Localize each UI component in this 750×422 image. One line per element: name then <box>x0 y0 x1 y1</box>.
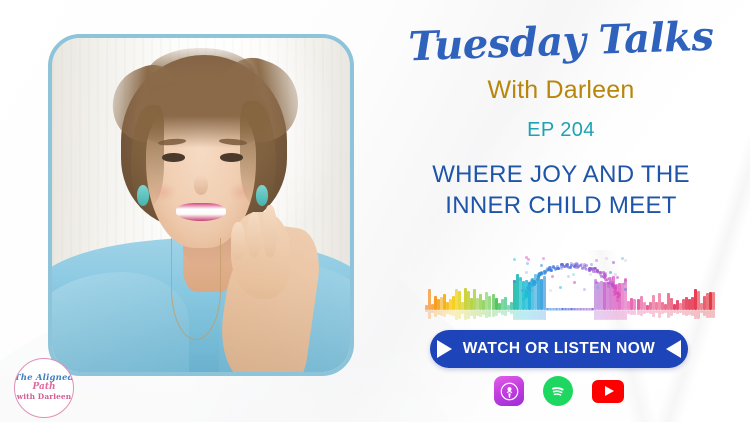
waveform-sparkle <box>609 271 612 274</box>
waveform-sparkle <box>526 280 529 283</box>
apple-podcasts-link[interactable] <box>494 376 524 406</box>
logo-line-1: The Aligned <box>14 374 74 383</box>
episode-title: WHERE JOY AND THE INNER CHILD MEET <box>372 160 750 221</box>
episode-title-line-1: WHERE JOY AND THE <box>372 160 750 191</box>
headphone-arc-dot <box>543 272 546 275</box>
show-title: Tuesday Talks <box>371 15 750 68</box>
waveform-sparkle <box>624 259 627 262</box>
waveform-sparkle <box>542 257 545 260</box>
waveform-sparkle <box>621 257 624 260</box>
host-name: With Darleen <box>372 78 750 103</box>
play-triangle-right-icon <box>437 340 452 358</box>
headphone-arc-dot <box>556 267 559 270</box>
waveform-bar-mirror <box>712 310 715 318</box>
audio-waveform-graphic <box>425 252 715 332</box>
episode-title-line-2: INNER CHILD MEET <box>372 191 750 222</box>
waveform-sparkle <box>562 265 565 268</box>
waveform-sparkle <box>595 259 598 262</box>
waveform-sparkle <box>596 286 599 289</box>
headphone-arc-dot <box>522 298 525 301</box>
host-photo <box>52 38 350 372</box>
waveform-bar-mirror <box>488 310 491 317</box>
waveform-bar <box>488 296 491 311</box>
waveform-sparkle <box>549 289 552 292</box>
platform-links <box>430 374 688 408</box>
waveform-sparkle <box>521 289 524 292</box>
logo-line-3: with Darleen <box>17 393 71 402</box>
waveform-sparkle <box>572 273 575 276</box>
waveform-sparkle <box>573 281 576 284</box>
waveform-sparkle <box>526 262 529 265</box>
waveform-bar <box>712 292 715 310</box>
spotify-link[interactable] <box>543 376 573 406</box>
waveform-sparkle <box>590 263 593 266</box>
waveform-sparkle <box>567 275 570 278</box>
waveform-sparkle <box>525 271 528 274</box>
host-photo-frame <box>48 34 354 376</box>
waveform-sparkle <box>513 280 516 283</box>
youtube-icon <box>592 380 624 403</box>
waveform-sparkle <box>530 289 533 292</box>
waveform-sparkle <box>513 258 516 261</box>
spotify-icon <box>543 376 573 406</box>
waveform-bar-mirror <box>543 310 546 320</box>
apple-podcasts-icon <box>494 376 524 406</box>
waveform-sparkle <box>623 282 626 285</box>
episode-number: EP 204 <box>372 120 750 140</box>
youtube-play-triangle-icon <box>605 386 614 396</box>
youtube-link[interactable] <box>592 380 624 403</box>
play-triangle-left-icon <box>666 340 681 358</box>
waveform-sparkle <box>559 286 562 289</box>
waveform-sparkle <box>519 278 522 281</box>
waveform-bar <box>633 299 636 310</box>
waveform-sparkle <box>612 261 615 264</box>
waveform-sparkle <box>540 264 543 267</box>
waveform-sparkle <box>595 281 598 284</box>
brand-logo-badge[interactable]: The Aligned Path with Darleen <box>14 358 74 418</box>
headphone-arc-dot <box>616 299 619 302</box>
cta-label: WATCH OR LISTEN NOW <box>463 340 655 358</box>
headphone-arc-dot <box>584 267 587 270</box>
headphone-arc-dot <box>550 269 553 272</box>
waveform-bar-mirror <box>633 310 636 315</box>
waveform-bar <box>543 276 546 310</box>
podcast-thumbnail: The Aligned Path with Darleen Tuesday Ta… <box>0 0 750 422</box>
waveform-sparkle <box>551 275 554 278</box>
waveform-sparkle <box>605 257 608 260</box>
waveform-sparkle <box>616 276 619 279</box>
waveform-sparkle <box>624 279 627 282</box>
waveform-sparkle <box>589 273 592 276</box>
waveform-sparkle <box>525 256 528 259</box>
photo-vignette <box>52 38 350 372</box>
watch-or-listen-button[interactable]: WATCH OR LISTEN NOW <box>430 330 688 368</box>
headphone-arc-dot <box>560 267 563 270</box>
waveform-sparkle <box>583 288 586 291</box>
